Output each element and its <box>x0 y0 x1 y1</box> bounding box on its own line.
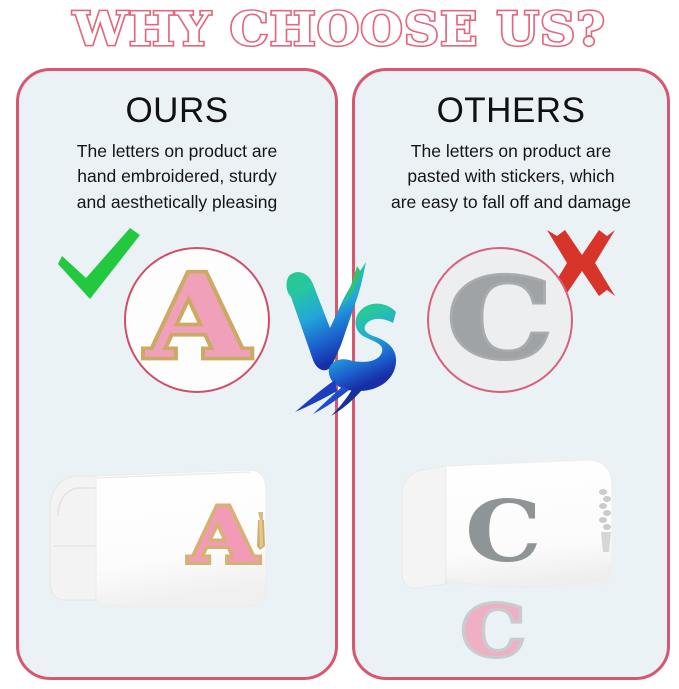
panel-ours-body-line-1: The letters on product are <box>33 139 321 164</box>
fallen-patch-letter-c: C <box>462 598 524 666</box>
panel-ours-body: The letters on product are hand embroide… <box>19 139 335 215</box>
panel-ours-body-line-3: and aesthetically pleasing <box>33 190 321 215</box>
fallen-patch-others: C <box>462 598 542 672</box>
vs-brush-icon <box>283 252 399 418</box>
panel-others-body-line-2: pasted with stickers, which <box>369 164 653 189</box>
panel-others-body-line-1: The letters on product are <box>369 139 653 164</box>
bag-ours-illustration <box>44 450 292 612</box>
page-title: WHY CHOOSE US? <box>73 6 606 52</box>
product-bag-ours: A <box>44 450 292 612</box>
circle-badge-others: C <box>427 247 573 393</box>
patch-letter-c-gray: C <box>447 264 552 374</box>
infographic-root: WHY CHOOSE US? OURS The letters on produ… <box>0 0 679 689</box>
panel-others-heading: OTHERS <box>355 91 667 131</box>
panel-others-body: The letters on product are pasted with s… <box>355 139 667 215</box>
panel-others-body-line-3: are easy to fall off and damage <box>369 190 653 215</box>
panel-ours-body-line-2: hand embroidered, sturdy <box>33 164 321 189</box>
product-bag-others: C <box>398 448 638 598</box>
patch-letter-a: A <box>146 261 249 375</box>
page-title-wrap: WHY CHOOSE US? <box>0 2 679 56</box>
circle-badge-ours: A <box>124 247 270 393</box>
bag-others-illustration <box>398 448 638 598</box>
panel-ours-heading: OURS <box>19 91 335 131</box>
